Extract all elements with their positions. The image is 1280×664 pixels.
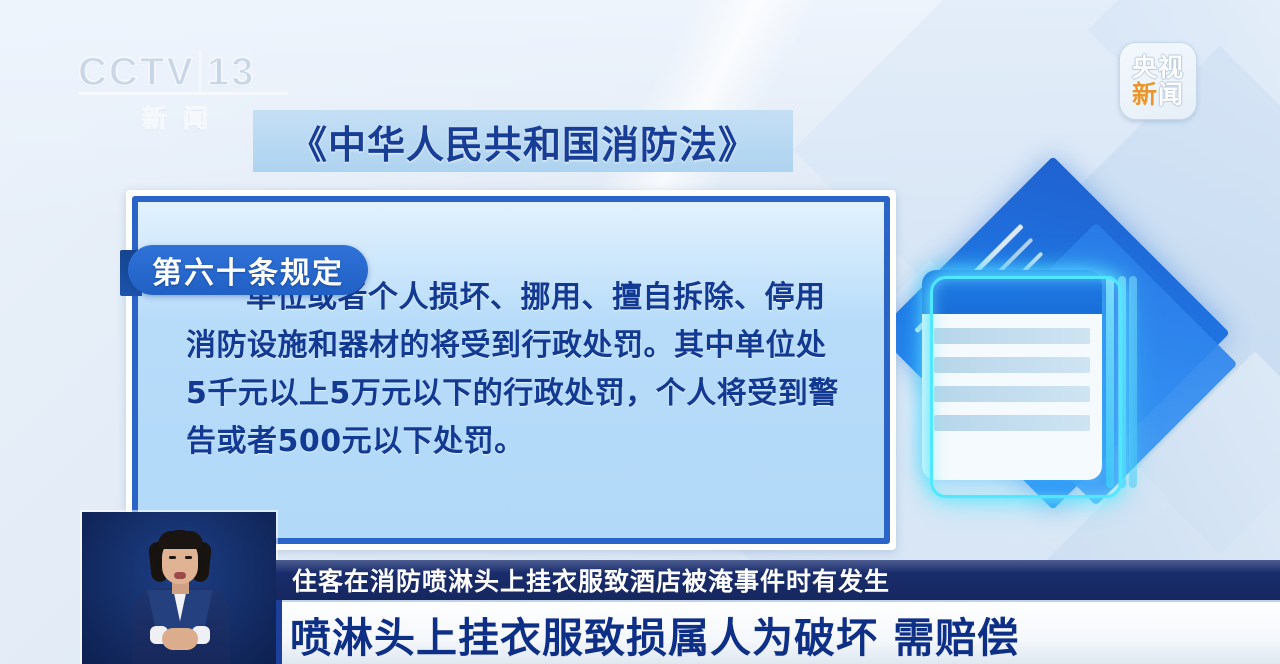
lower-third-accent-stripe (276, 600, 282, 664)
anchor-eye-right (185, 556, 192, 559)
document-glow-outline (930, 276, 1122, 498)
article-card: 单位或者个人损坏、挪用、擅自拆除、停用 消防设施和器材的将受到行政处罚。其中单位… (126, 190, 896, 550)
news-anchor-video (82, 512, 276, 664)
lower-third-subtitle-sheen (276, 560, 1280, 573)
cctv-news-badge-wen: 闻 (1158, 80, 1184, 109)
broadcast-screen: CCTV13 新闻 央视 新闻 《中华人民共和国消防法》 单位或者个人损坏、挪用… (0, 0, 1280, 664)
document-graphic (900, 190, 1230, 550)
article-badge: 第六十条规定 (128, 245, 368, 295)
lower-third-headline-text: 喷淋头上挂衣服致损属人为破坏 需赔偿 (290, 604, 1019, 664)
law-title-banner: 《中华人民共和国消防法》 (253, 110, 793, 172)
document-stack-edge-3 (1129, 276, 1137, 488)
article-line-4: 告或者500元以下处罚。 (186, 418, 850, 466)
cctv-news-badge-xin: 新 (1132, 80, 1158, 109)
anchor-hands (162, 628, 198, 650)
cctv-logo-number: 13 (199, 50, 262, 94)
article-line-2: 消防设施和器材的将受到行政处罚。其中单位处 (186, 322, 850, 370)
lower-third-subtitle-bar: 住客在消防喷淋头上挂衣服致酒店被淹事件时有发生 (276, 560, 1280, 600)
cctv-logo-wordmark: CCTV13 (78, 50, 288, 94)
anchor-mouth (174, 572, 186, 579)
anchor-eye-left (169, 556, 176, 559)
anchor-fringe (158, 531, 203, 549)
cctv-news-badge: 央视 新闻 (1119, 42, 1197, 120)
cctv-news-badge-line2: 新闻 (1132, 81, 1184, 108)
article-line-3: 5千元以上5万元以下的行政处罚，个人将受到警 (186, 370, 850, 418)
lower-third-headline-bar: 喷淋头上挂衣服致损属人为破坏 需赔偿 (276, 600, 1280, 664)
law-title-text: 《中华人民共和国消防法》 (289, 114, 757, 169)
article-badge-label: 第六十条规定 (152, 248, 344, 292)
cctv-logo-text: CCTV (78, 50, 195, 94)
cctv-news-badge-line1: 央视 (1132, 54, 1184, 81)
